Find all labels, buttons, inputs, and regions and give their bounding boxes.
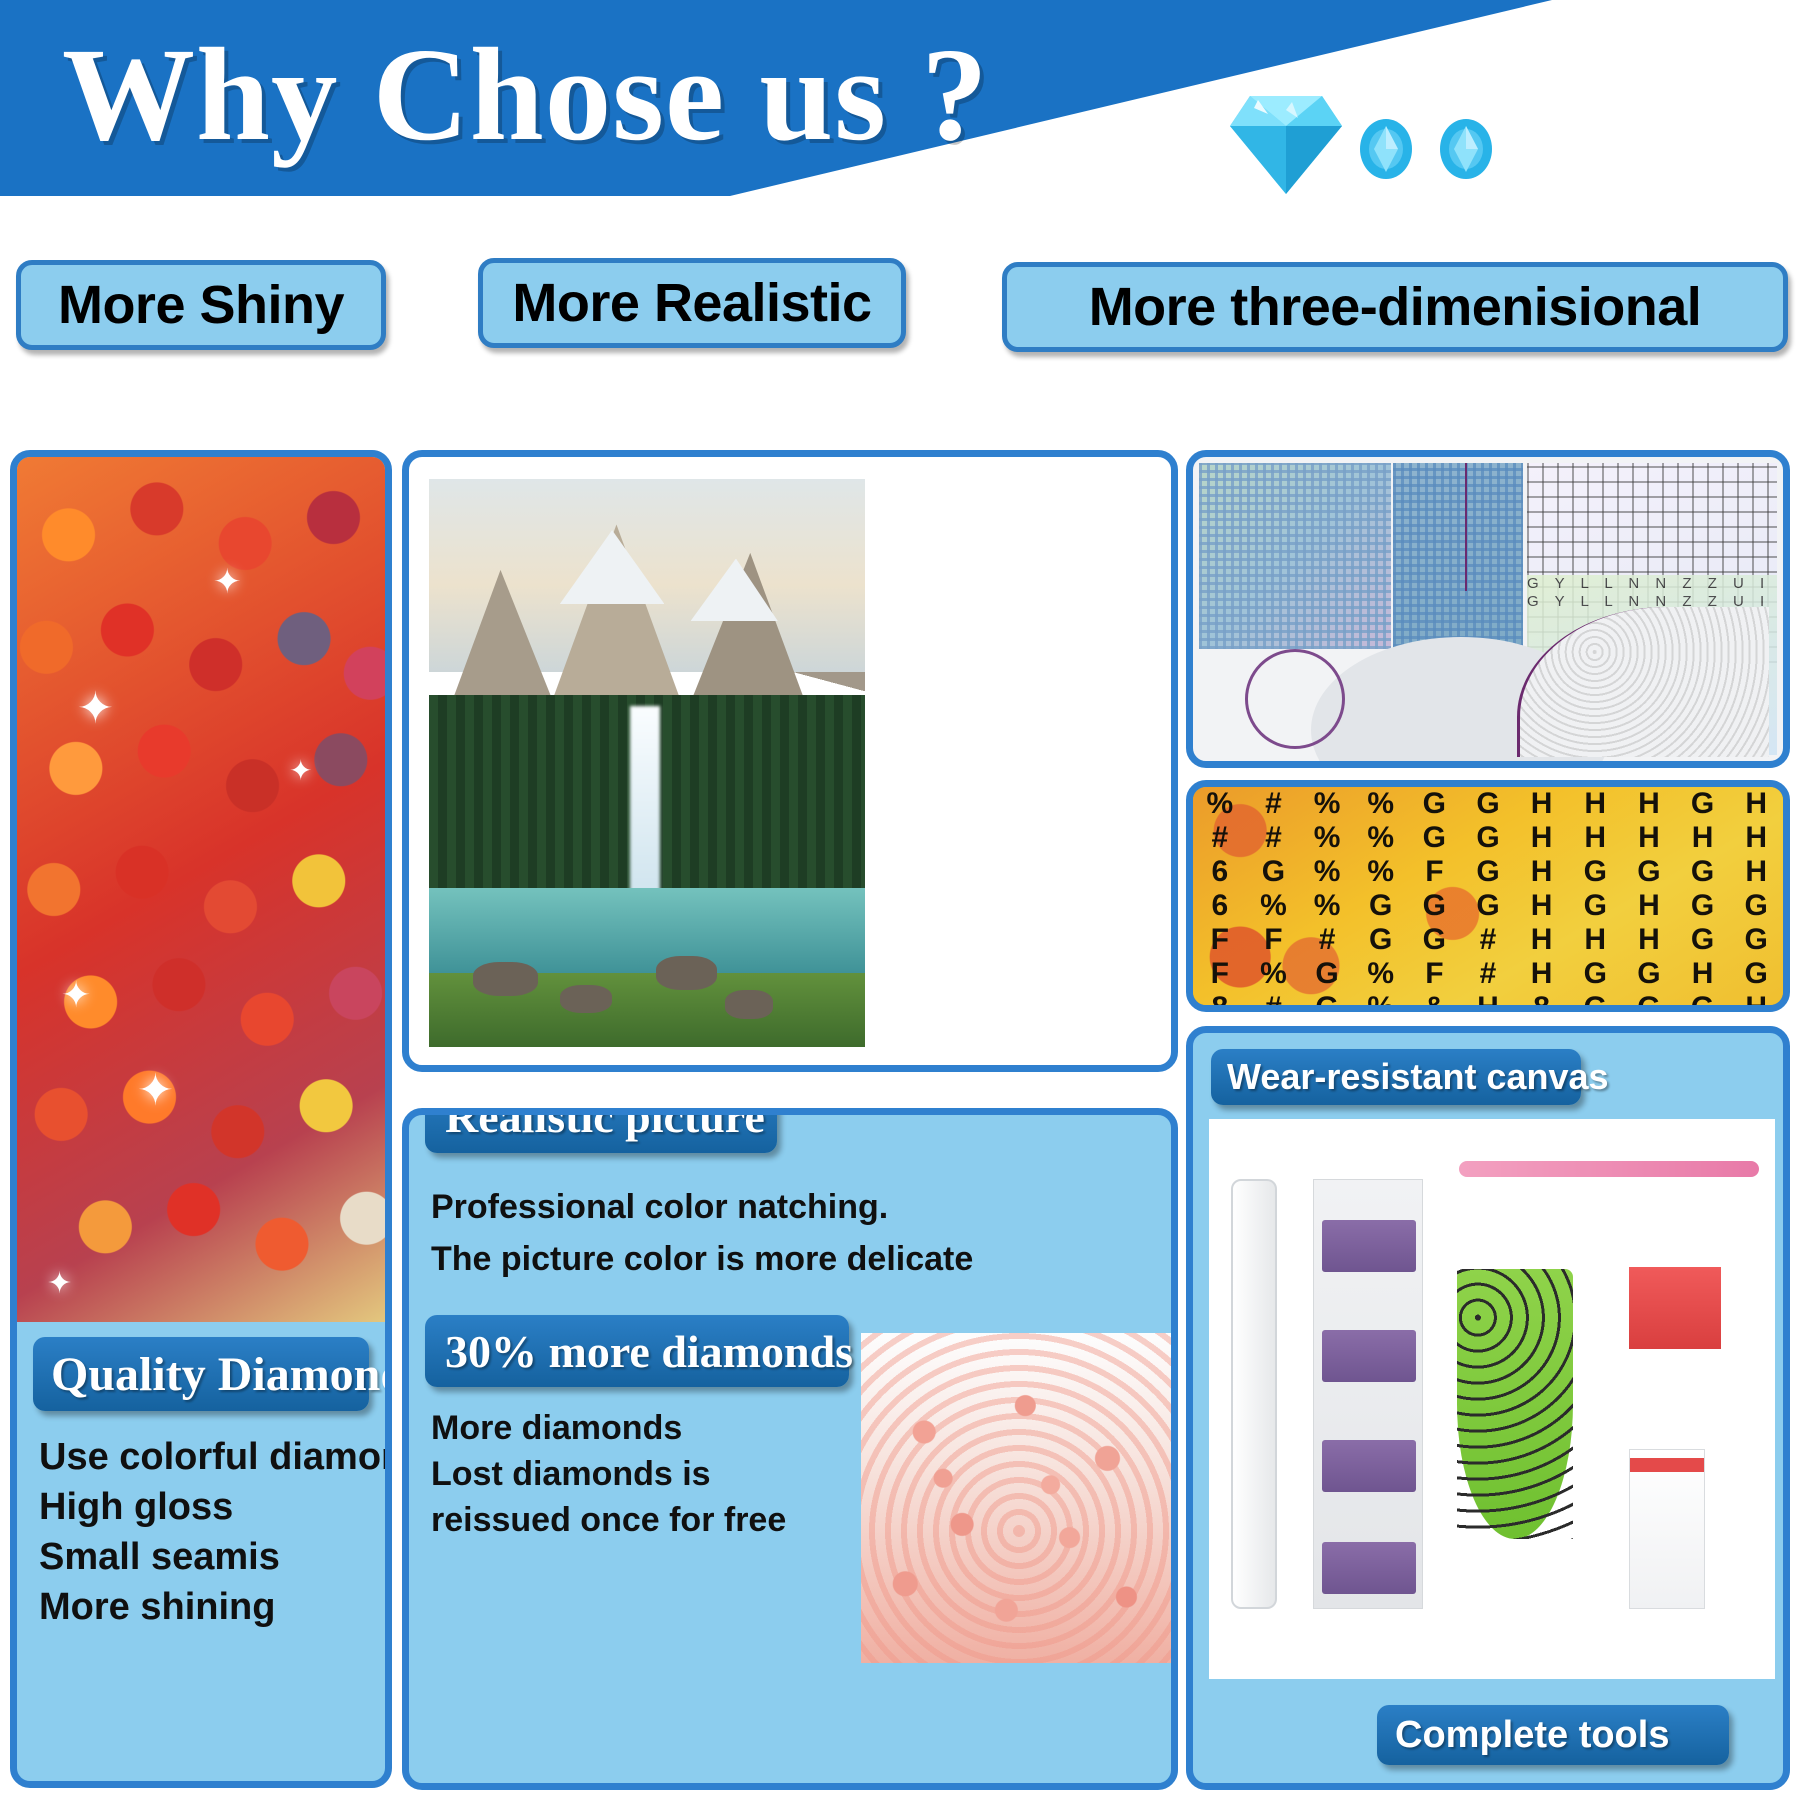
symbol-cell: % [1367,821,1394,855]
capability-badge-label: More Realistic [512,272,871,334]
symbol-cell: G [1423,889,1446,923]
symbol-cell: H [1531,889,1553,923]
symbol-cell: H [1745,855,1767,889]
symbol-cell: F [1264,923,1282,957]
sparkle-icon: ✦ [289,757,312,785]
symbol-cell: H [1531,787,1553,821]
symbol-cell: % [1367,787,1394,821]
symbol-cell: # [1480,957,1497,991]
symbol-cell: % [1367,957,1394,991]
symbol-cell: G [1369,923,1392,957]
quality-diamonds-title-label: Quality Diamonds [33,1347,392,1402]
complete-tools-badge: Complete tools [1377,1705,1729,1765]
symbol-cell: H [1638,787,1660,821]
quality-diamonds-panel: ✦ ✦ ✦ ✦ ✦ ✦ Quality Diamonds Use colorfu… [10,450,392,1788]
symbol-cell: H [1745,991,1767,1012]
symbol-cell: G [1584,855,1607,889]
symbol-cell: F [1425,855,1443,889]
symbol-cell: G [1476,889,1499,923]
symbol-cell: G [1691,923,1714,957]
symbol-cell: G [1745,889,1768,923]
list-item: More diamonds [431,1405,871,1451]
symbol-chart-grid: %#%%GGHHHGH##%%GGHHHHH6G%%FGHGGGH6%%GGGH… [1193,787,1783,1005]
thirty-percent-more-diamonds-label: 30% more diamonds [425,1325,853,1378]
symbol-cell: H [1531,821,1553,855]
rhinestone-closeup-photo: ✦ ✦ ✦ ✦ ✦ ✦ [17,457,385,1322]
symbol-cell: 6 [1211,889,1228,923]
thirty-percent-more-diamonds-badge: 30% more diamonds [425,1315,849,1387]
symbol-cell: # [1265,991,1282,1012]
symbol-cell: # [1319,923,1336,957]
symbol-cell: G [1745,923,1768,957]
pink-diamond-beads-photo [861,1333,1177,1663]
list-item: reissued once for free [431,1497,871,1543]
symbol-cell: G [1369,889,1392,923]
symbol-cell: H [1531,957,1553,991]
list-item: High gloss [39,1482,379,1532]
capability-badge-more-shiny[interactable]: More Shiny [16,260,386,350]
list-item: Small seamis [39,1532,379,1582]
symbol-cell: H [1745,787,1767,821]
symbol-cell: H [1477,991,1499,1012]
symbol-cell: % [1367,855,1394,889]
symbol-cell: H [1584,787,1606,821]
sparkle-icon: ✦ [47,1269,72,1299]
symbol-cell: 6 [1211,855,1228,889]
symbol-cell: F [1425,957,1443,991]
symbol-cell: G [1476,855,1499,889]
symbol-cell: % [1314,787,1341,821]
symbol-cell: 8 [1533,991,1550,1012]
canvas-edge-line [1465,463,1467,591]
symbol-cell: G [1691,855,1714,889]
green-tray-icon [1457,1269,1573,1539]
realistic-picture-title-badge: Realistic picture [425,1108,777,1153]
sparkle-icon: ✦ [77,687,114,731]
list-item: More shining [39,1582,379,1632]
symbol-cell: G [1691,889,1714,923]
symbol-cell: G [1423,787,1446,821]
symbol-cell: % [1260,957,1287,991]
paragraph-line: Professional color natching. [431,1181,1151,1233]
symbol-cell: H [1638,821,1660,855]
realistic-picture-paragraph: Professional color natching. The picture… [431,1181,1151,1285]
wear-resistant-canvas-label: Wear-resistant canvas [1211,1056,1609,1098]
symbol-cell: G [1637,991,1660,1012]
symbol-cell: H [1745,821,1767,855]
list-item: Lost diamonds is [431,1451,871,1497]
red-clay-icon [1629,1267,1721,1349]
symbol-cell: G [1476,787,1499,821]
diamond-bags-icon [1313,1179,1423,1609]
symbol-cell: H [1638,923,1660,957]
glue-tube-icon [1231,1179,1277,1609]
quality-diamonds-title-badge: Quality Diamonds [33,1337,369,1411]
symbol-cell: H [1692,821,1714,855]
symbol-cell: G [1262,855,1285,889]
symbol-cell: H [1531,923,1553,957]
symbol-cell: % [1260,889,1287,923]
capability-badge-label: More three-dimenisional [1089,276,1702,338]
tool-kit-photo [1209,1119,1775,1679]
symbol-cell: G [1691,991,1714,1012]
canvas-dot-pattern [1199,463,1391,649]
symbol-cell: % [1314,855,1341,889]
applicator-pen-icon [1459,1161,1759,1177]
symbol-cell: H [1692,957,1714,991]
symbol-cell: G [1637,957,1660,991]
symbol-cell: # [1211,821,1228,855]
quality-diamonds-bullet-list: Use colorful diamonds High gloss Small s… [39,1432,379,1632]
tool-strip-icon [1629,1449,1705,1609]
realistic-picture-image-panel: Long-term preservation [402,450,1178,1072]
symbol-cell: & [1424,991,1446,1012]
capability-badge-more-three-dimensional[interactable]: More three-dimenisional [1002,262,1788,352]
symbol-cell: # [1265,821,1282,855]
symbol-chart-panel: %#%%GGHHHGH##%%GGHHHHH6G%%FGHGGGH6%%GGGH… [1186,780,1790,1012]
symbol-cell: F [1211,923,1229,957]
diamond-small-icon [1358,118,1414,180]
symbol-cell: G [1691,787,1714,821]
more-diamonds-list: More diamonds Lost diamonds is reissued … [431,1405,871,1543]
capability-badge-more-realistic[interactable]: More Realistic [478,258,906,348]
paragraph-line: The picture color is more delicate [431,1233,1151,1285]
symbol-cell: % [1314,821,1341,855]
canvas-detail-circle [1245,649,1345,749]
symbol-cell: % [1206,787,1233,821]
page-title: Why Chose us ? [62,8,989,180]
page-header: Why Chose us ? [0,0,1800,196]
symbol-cell: G [1584,991,1607,1012]
symbol-cell: G [1423,923,1446,957]
symbol-cell: % [1314,889,1341,923]
diamond-large-icon [1228,92,1344,196]
canvas-closeup-panel: G Y L L N N Z Z U I G Y L L N N Z Z U I [1186,450,1790,768]
symbol-cell: G [1315,991,1338,1012]
symbol-cell: H [1638,889,1660,923]
symbol-cell: G [1637,855,1660,889]
symbol-cell: # [1480,923,1497,957]
symbol-cell: % [1367,991,1394,1012]
sparkle-icon: ✦ [213,565,242,599]
capability-badge-label: More Shiny [58,274,344,336]
symbol-cell: G [1423,821,1446,855]
tools-panel: Wear-resistant canvas Complete tools [1186,1026,1790,1790]
sparkle-icon: ✦ [137,1069,174,1113]
symbol-cell: H [1584,923,1606,957]
sparkle-icon: ✦ [61,977,91,1013]
symbol-cell: 8 [1211,991,1228,1012]
realistic-picture-text-panel: Realistic picture Professional color nat… [402,1108,1178,1790]
symbol-cell: G [1476,821,1499,855]
complete-tools-label: Complete tools [1377,1714,1669,1757]
list-item: Use colorful diamonds [39,1432,379,1482]
symbol-cell: H [1584,821,1606,855]
symbol-cell: G [1315,957,1338,991]
capability-badge-row: More Shiny More Realistic More three-dim… [0,252,1800,364]
wear-resistant-canvas-badge: Wear-resistant canvas [1211,1049,1581,1105]
symbol-cell: F [1211,957,1229,991]
symbol-cell: H [1531,855,1553,889]
mountain-landscape-painting [429,479,865,1047]
diamond-small-icon [1438,118,1494,180]
symbol-cell: G [1745,957,1768,991]
symbol-cell: G [1584,889,1607,923]
symbol-cell: G [1584,957,1607,991]
symbol-cell: # [1265,787,1282,821]
realistic-picture-title-label: Realistic picture [425,1108,765,1143]
